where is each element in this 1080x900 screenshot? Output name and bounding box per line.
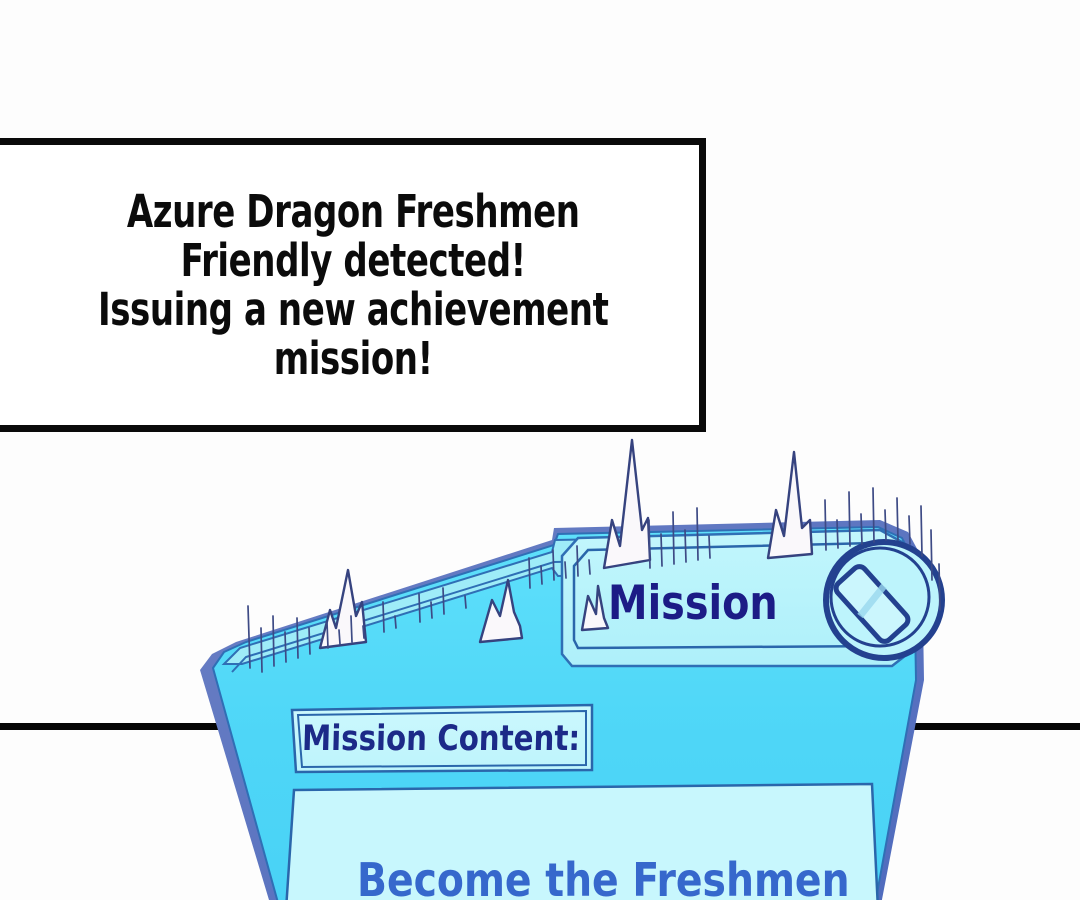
caption-text: Azure Dragon Freshmen Friendly detected!…: [55, 187, 643, 383]
mission-window[interactable]: [180, 380, 1000, 900]
system-announcement-caption: Azure Dragon Freshmen Friendly detected!…: [0, 138, 706, 432]
mission-content-label-plate: [292, 705, 592, 772]
comic-page: Mission Mission Content: Become the Fres…: [0, 0, 1080, 900]
mission-content-value-plate: [286, 784, 878, 900]
mission-badge[interactable]: [826, 542, 942, 658]
